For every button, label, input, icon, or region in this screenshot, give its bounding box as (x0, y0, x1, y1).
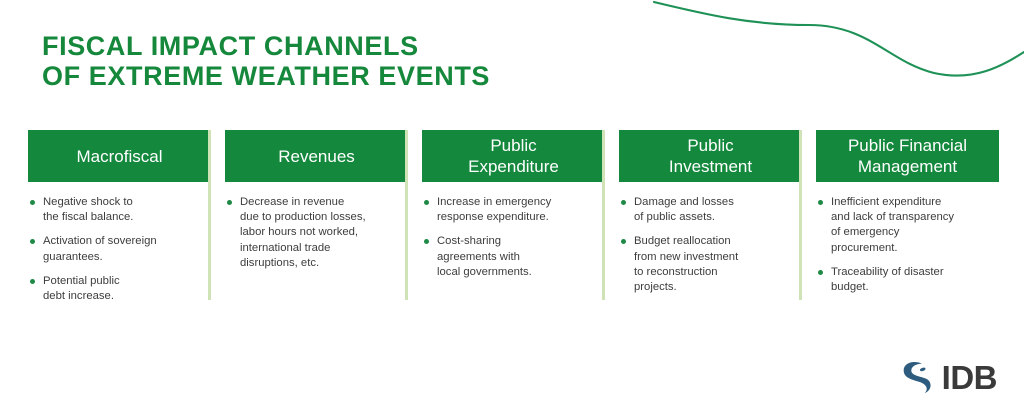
list-item-text: Cost-sharing agreements with local gover… (437, 235, 532, 277)
list-item-text: Potential public debt increase. (43, 275, 120, 302)
list-item-text: Increase in emergency response expenditu… (437, 196, 551, 223)
column-header-box: Public Financial Management (816, 130, 999, 182)
list-item-text: Budget reallocation from new investment … (634, 235, 738, 293)
list-item: Traceability of disaster budget. (816, 265, 999, 295)
list-item: Increase in emergency response expenditu… (422, 195, 605, 225)
list-item: Negative shock to the fiscal balance. (28, 195, 211, 225)
bullet-dot-icon (30, 239, 35, 244)
channel-column-macrofiscal: Macrofiscal Negative shock to the fiscal… (28, 130, 225, 313)
bullet-dot-icon (227, 200, 232, 205)
bullet-dot-icon (818, 200, 823, 205)
channel-column-public-financial-management: Public Financial Management Inefficient … (816, 130, 1013, 304)
list-item-text: Negative shock to the fiscal balance. (43, 196, 133, 223)
list-item-text: Decrease in revenue due to production lo… (240, 196, 366, 269)
list-item: Activation of sovereign guarantees. (28, 234, 211, 264)
list-item: Decrease in revenue due to production lo… (225, 195, 408, 271)
decorative-swoosh-curve (644, 0, 1024, 90)
bullet-dot-icon (30, 200, 35, 205)
idb-logo: IDB (898, 358, 997, 396)
list-item: Potential public debt increase. (28, 274, 211, 304)
list-item-text: Inefficient expenditure and lack of tran… (831, 196, 954, 254)
list-item: Inefficient expenditure and lack of tran… (816, 195, 999, 256)
column-header-box: Macrofiscal (28, 130, 211, 182)
column-header-label: Macrofiscal (77, 146, 163, 167)
bullet-dot-icon (818, 270, 823, 275)
bullet-dot-icon (30, 279, 35, 284)
channel-column-revenues: Revenues Decrease in revenue due to prod… (225, 130, 422, 280)
page-title: FISCAL IMPACT CHANNELS OF EXTREME WEATHE… (42, 31, 490, 91)
bullet-dot-icon (424, 200, 429, 205)
list-item-text: Traceability of disaster budget. (831, 266, 944, 293)
bullet-dot-icon (621, 200, 626, 205)
channel-column-public-expenditure: Public Expenditure Increase in emergency… (422, 130, 619, 289)
title-line-2: OF EXTREME WEATHER EVENTS (42, 61, 490, 91)
title-line-1: FISCAL IMPACT CHANNELS (42, 31, 490, 61)
list-item: Cost-sharing agreements with local gover… (422, 234, 605, 280)
column-header-box: Public Investment (619, 130, 802, 182)
column-header-box: Revenues (225, 130, 408, 182)
column-bullet-list: Inefficient expenditure and lack of tran… (816, 195, 999, 295)
column-header-label: Revenues (278, 146, 355, 167)
column-header-label: Public Investment (669, 135, 752, 177)
column-header-label: Public Financial Management (848, 135, 967, 177)
column-bullet-list: Damage and losses of public assets. Budg… (619, 195, 802, 295)
idb-wordmark: IDB (942, 361, 997, 394)
channel-columns: Macrofiscal Negative shock to the fiscal… (28, 130, 997, 313)
idb-swirl-mark-icon (898, 358, 936, 396)
list-item: Damage and losses of public assets. (619, 195, 802, 225)
list-item: Budget reallocation from new investment … (619, 234, 802, 295)
column-bullet-list: Negative shock to the fiscal balance. Ac… (28, 195, 211, 304)
infographic-canvas: FISCAL IMPACT CHANNELS OF EXTREME WEATHE… (0, 0, 1024, 418)
channel-column-public-investment: Public Investment Damage and losses of p… (619, 130, 816, 304)
bullet-dot-icon (621, 239, 626, 244)
bullet-dot-icon (424, 239, 429, 244)
list-item-text: Damage and losses of public assets. (634, 196, 734, 223)
list-item-text: Activation of sovereign guarantees. (43, 235, 157, 262)
column-header-label: Public Expenditure (468, 135, 559, 177)
column-bullet-list: Increase in emergency response expenditu… (422, 195, 605, 280)
column-header-box: Public Expenditure (422, 130, 605, 182)
column-bullet-list: Decrease in revenue due to production lo… (225, 195, 408, 271)
